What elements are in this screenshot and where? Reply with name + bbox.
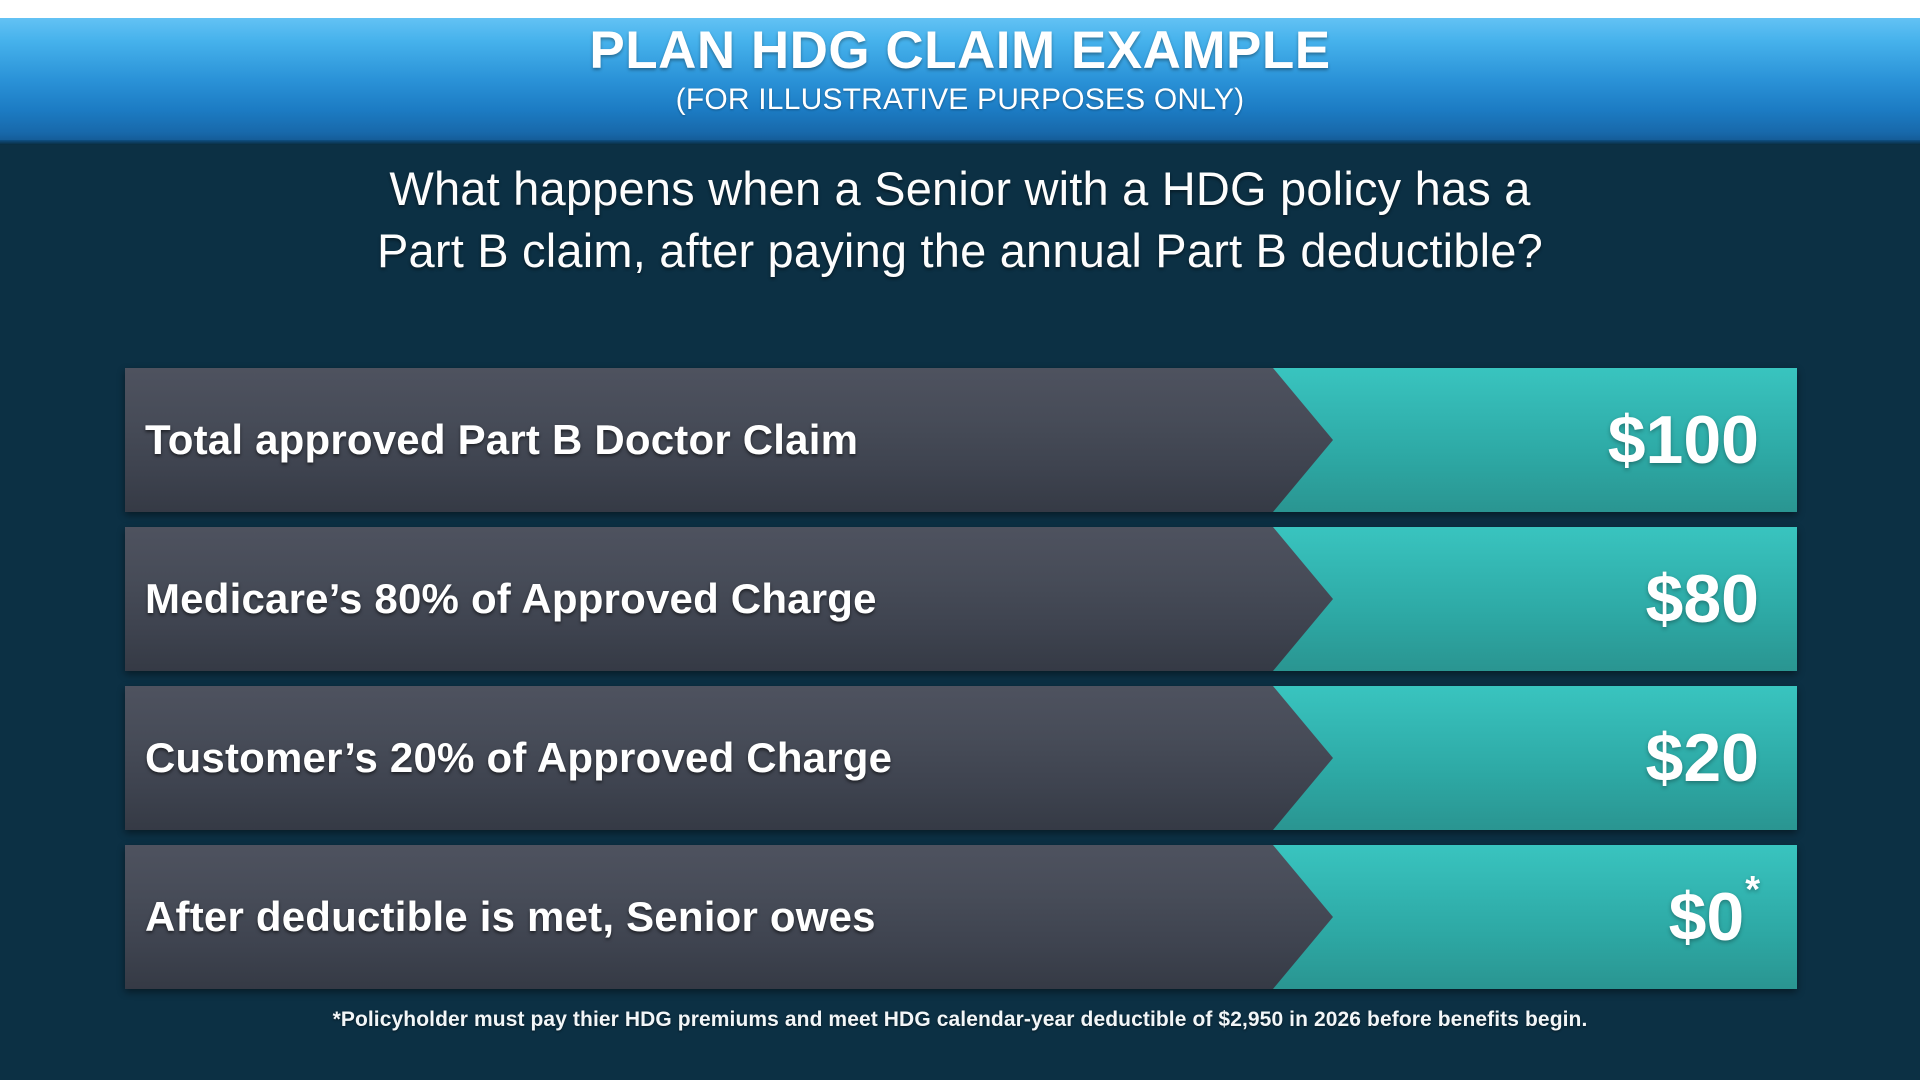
claim-row-value: $20 [1646,724,1759,792]
claim-row: $100 Total approved Part B Doctor Claim [125,368,1797,512]
header-banner: PLAN HDG CLAIM EXAMPLE (FOR ILLUSTRATIVE… [0,18,1920,145]
claim-row-value-panel: $0* [1273,845,1797,989]
claim-row-label-panel: After deductible is met, Senior owes [125,845,1333,989]
claim-row: $20 Customer’s 20% of Approved Charge [125,686,1797,830]
page-subtitle: (FOR ILLUSTRATIVE PURPOSES ONLY) [0,82,1920,118]
claim-row-value-amount: $100 [1608,402,1759,478]
claim-row-value: $100 [1608,406,1759,474]
claim-row-label: Medicare’s 80% of Approved Charge [145,575,877,623]
claim-row-value-panel: $80 [1273,527,1797,671]
claim-row-value: $0* [1669,883,1759,951]
claim-row-label: After deductible is met, Senior owes [145,893,876,941]
claim-breakdown-list: $100 Total approved Part B Doctor Claim … [125,368,1797,1004]
claim-row-value: $80 [1646,565,1759,633]
top-white-margin [0,0,1920,18]
question-line-2: Part B claim, after paying the annual Pa… [0,220,1920,282]
claim-row-value-panel: $100 [1273,368,1797,512]
claim-row: $0* After deductible is met, Senior owes [125,845,1797,989]
header-inner: PLAN HDG CLAIM EXAMPLE (FOR ILLUSTRATIVE… [0,18,1920,118]
claim-row-label: Total approved Part B Doctor Claim [145,416,858,464]
claim-row-value-amount: $0 [1669,879,1745,955]
claim-row: $80 Medicare’s 80% of Approved Charge [125,527,1797,671]
claim-row-value-amount: $80 [1646,561,1759,637]
question-text: What happens when a Senior with a HDG po… [0,158,1920,281]
footnote-text: *Policyholder must pay thier HDG premium… [0,1008,1920,1032]
header-bottom-edge [0,140,1920,145]
claim-row-label-panel: Medicare’s 80% of Approved Charge [125,527,1333,671]
claim-row-label: Customer’s 20% of Approved Charge [145,734,892,782]
question-line-1: What happens when a Senior with a HDG po… [0,158,1920,220]
claim-row-label-panel: Total approved Part B Doctor Claim [125,368,1333,512]
claim-row-value-amount: $20 [1646,720,1759,796]
claim-row-label-panel: Customer’s 20% of Approved Charge [125,686,1333,830]
claim-row-value-panel: $20 [1273,686,1797,830]
slide-canvas: PLAN HDG CLAIM EXAMPLE (FOR ILLUSTRATIVE… [0,0,1920,1080]
claim-row-value-superscript: * [1745,869,1760,911]
page-title: PLAN HDG CLAIM EXAMPLE [0,24,1920,78]
